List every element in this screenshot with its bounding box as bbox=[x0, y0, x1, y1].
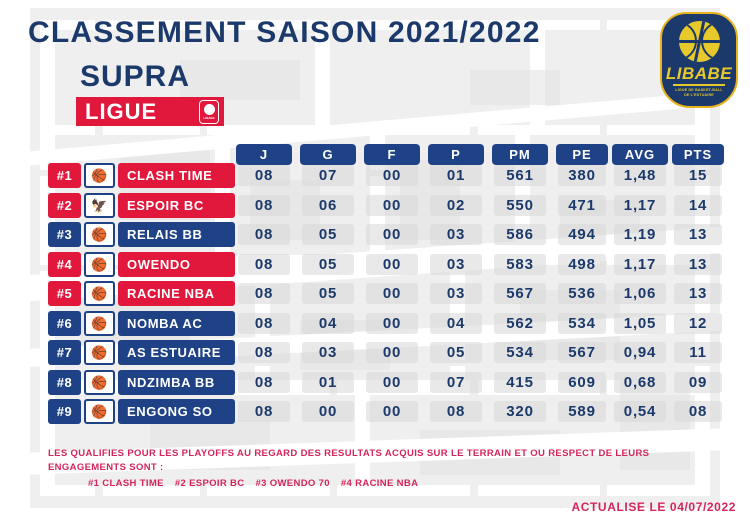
crest-divider bbox=[673, 84, 725, 86]
standings-poster: CLASSEMENT SAISON 2021/2022 SUPRA LIGUE … bbox=[0, 0, 750, 530]
stat-p: 03 bbox=[428, 252, 484, 277]
qualified-team: #2 ESPOIR BC bbox=[175, 478, 245, 489]
libabe-mini-icon: LIBABE bbox=[199, 100, 219, 124]
stat-pe: 609 bbox=[556, 370, 608, 395]
stat-pts: 08 bbox=[672, 399, 724, 424]
crest-subtitle: LIGUE DE BASKET-BALL DE L'ESTUAIRE bbox=[675, 88, 722, 98]
stat-j: 08 bbox=[236, 281, 292, 306]
stat-p: 05 bbox=[428, 340, 484, 365]
stat-pm: 320 bbox=[492, 399, 548, 424]
stat-p: 07 bbox=[428, 370, 484, 395]
stat-f: 00 bbox=[364, 222, 420, 247]
stat-j: 08 bbox=[236, 163, 292, 188]
qualified-teams-list: #1 CLASH TIME#2 ESPOIR BC#3 OWENDO 70#4 … bbox=[88, 478, 429, 489]
stat-g: 03 bbox=[300, 340, 356, 365]
stat-g: 04 bbox=[300, 311, 356, 336]
stat-avg: 0,68 bbox=[612, 370, 668, 395]
stat-avg: 1,48 bbox=[612, 163, 668, 188]
column-header-pe: PE bbox=[556, 144, 608, 165]
ball-seam-left bbox=[679, 21, 697, 61]
stat-pm: 550 bbox=[492, 193, 548, 218]
stat-f: 00 bbox=[364, 399, 420, 424]
nomba-ac-logo: 🏀 bbox=[84, 311, 115, 336]
stat-pe: 534 bbox=[556, 311, 608, 336]
stat-f: 00 bbox=[364, 340, 420, 365]
team-name: NDZIMBA BB bbox=[118, 370, 235, 395]
crest-subtitle-line2: DE L'ESTUAIRE bbox=[675, 93, 722, 98]
stat-p: 04 bbox=[428, 311, 484, 336]
stat-j: 08 bbox=[236, 252, 292, 277]
column-header-g: G bbox=[300, 144, 356, 165]
team-name: ENGONG SO bbox=[118, 399, 235, 424]
stat-j: 08 bbox=[236, 370, 292, 395]
basketball-icon bbox=[679, 21, 720, 62]
crest-subtitle-line1: LIGUE DE BASKET-BALL bbox=[675, 88, 722, 93]
stat-g: 07 bbox=[300, 163, 356, 188]
stat-g: 05 bbox=[300, 222, 356, 247]
rank-badge: #6 bbox=[48, 311, 81, 336]
column-header-f: F bbox=[364, 144, 420, 165]
stat-pts: 13 bbox=[672, 281, 724, 306]
basketball-icon bbox=[204, 104, 215, 115]
stat-pm: 583 bbox=[492, 252, 548, 277]
column-header-p: P bbox=[428, 144, 484, 165]
stat-pts: 13 bbox=[672, 222, 724, 247]
relais-bb-logo: 🏀 bbox=[84, 222, 115, 247]
rank-badge: #9 bbox=[48, 399, 81, 424]
stat-f: 00 bbox=[364, 311, 420, 336]
stat-p: 03 bbox=[428, 222, 484, 247]
rank-badge: #4 bbox=[48, 252, 81, 277]
stat-avg: 1,05 bbox=[612, 311, 668, 336]
team-crest-icon: 🏀 bbox=[91, 405, 107, 418]
stat-g: 05 bbox=[300, 281, 356, 306]
stat-pts: 11 bbox=[672, 340, 724, 365]
page-title: CLASSEMENT SAISON 2021/2022 bbox=[28, 16, 541, 50]
stat-pe: 589 bbox=[556, 399, 608, 424]
team-crest-icon: 🏀 bbox=[91, 317, 107, 330]
team-crest-icon: 🏀 bbox=[91, 169, 107, 182]
team-name: RELAIS BB bbox=[118, 222, 235, 247]
stat-j: 08 bbox=[236, 222, 292, 247]
stat-pts: 15 bbox=[672, 163, 724, 188]
stat-pm: 562 bbox=[492, 311, 548, 336]
stat-g: 01 bbox=[300, 370, 356, 395]
stat-avg: 1,17 bbox=[612, 193, 668, 218]
supra-ligue-logo: SUPRA LIGUE LIBABE bbox=[76, 62, 224, 126]
qualified-team: #1 CLASH TIME bbox=[88, 478, 164, 489]
as-estuaire-logo: 🏀 bbox=[84, 340, 115, 365]
stat-pm: 586 bbox=[492, 222, 548, 247]
column-header-pts: PTS bbox=[672, 144, 724, 165]
stat-f: 00 bbox=[364, 193, 420, 218]
stat-j: 08 bbox=[236, 399, 292, 424]
stat-pm: 561 bbox=[492, 163, 548, 188]
rank-badge: #5 bbox=[48, 281, 81, 306]
mini-logo-label: LIBABE bbox=[203, 116, 214, 120]
espoir-bc-logo: 🦅 bbox=[84, 193, 115, 218]
team-name: NOMBA AC bbox=[118, 311, 235, 336]
rank-badge: #7 bbox=[48, 340, 81, 365]
stat-g: 00 bbox=[300, 399, 356, 424]
stat-f: 00 bbox=[364, 281, 420, 306]
stat-pe: 471 bbox=[556, 193, 608, 218]
stat-pm: 567 bbox=[492, 281, 548, 306]
team-name: CLASH TIME bbox=[118, 163, 235, 188]
libabe-crest: LIBABE LIGUE DE BASKET-BALL DE L'ESTUAIR… bbox=[660, 12, 738, 108]
owendo-logo: 🏀 bbox=[84, 252, 115, 277]
stat-j: 08 bbox=[236, 311, 292, 336]
ball-seam-right bbox=[701, 21, 720, 61]
stat-pe: 567 bbox=[556, 340, 608, 365]
team-name: OWENDO bbox=[118, 252, 235, 277]
stat-avg: 1,06 bbox=[612, 281, 668, 306]
stat-p: 02 bbox=[428, 193, 484, 218]
team-name: RACINE NBA bbox=[118, 281, 235, 306]
stat-g: 06 bbox=[300, 193, 356, 218]
stat-pm: 415 bbox=[492, 370, 548, 395]
crest-name: LIBABE bbox=[666, 65, 732, 82]
stat-f: 00 bbox=[364, 252, 420, 277]
stat-avg: 0,94 bbox=[612, 340, 668, 365]
team-crest-icon: 🏀 bbox=[91, 228, 107, 241]
stat-pts: 12 bbox=[672, 311, 724, 336]
stat-pts: 09 bbox=[672, 370, 724, 395]
stat-avg: 1,19 bbox=[612, 222, 668, 247]
ndzimba-bb-logo: 🏀 bbox=[84, 370, 115, 395]
stat-p: 03 bbox=[428, 281, 484, 306]
column-header-avg: AVG bbox=[612, 144, 668, 165]
qualified-team: #4 RACINE NBA bbox=[341, 478, 418, 489]
team-crest-icon: 🏀 bbox=[91, 258, 107, 271]
stat-j: 08 bbox=[236, 340, 292, 365]
column-header-pm: PM bbox=[492, 144, 548, 165]
qualification-note: LES QUALIFIES POUR LES PLAYOFFS AU REGAR… bbox=[48, 447, 708, 475]
team-crest-icon: 🏀 bbox=[91, 376, 107, 389]
ligue-bar: LIGUE LIBABE bbox=[76, 97, 224, 126]
stat-pe: 498 bbox=[556, 252, 608, 277]
stat-pe: 494 bbox=[556, 222, 608, 247]
updated-date: ACTUALISE LE 04/07/2022 bbox=[571, 500, 736, 514]
team-name: AS ESTUAIRE bbox=[118, 340, 235, 365]
team-crest-icon: 🦅 bbox=[91, 199, 107, 212]
stat-pe: 380 bbox=[556, 163, 608, 188]
stat-pts: 14 bbox=[672, 193, 724, 218]
team-name: ESPOIR BC bbox=[118, 193, 235, 218]
stat-pe: 536 bbox=[556, 281, 608, 306]
stat-g: 05 bbox=[300, 252, 356, 277]
rank-badge: #8 bbox=[48, 370, 81, 395]
stat-f: 00 bbox=[364, 370, 420, 395]
engong-so-logo: 🏀 bbox=[84, 399, 115, 424]
ligue-label: LIGUE bbox=[85, 101, 157, 123]
team-crest-icon: 🏀 bbox=[91, 287, 107, 300]
racine-nba-logo: 🏀 bbox=[84, 281, 115, 306]
stat-avg: 1,17 bbox=[612, 252, 668, 277]
stat-pm: 534 bbox=[492, 340, 548, 365]
stat-pts: 13 bbox=[672, 252, 724, 277]
stat-j: 08 bbox=[236, 193, 292, 218]
rank-badge: #3 bbox=[48, 222, 81, 247]
stat-p: 08 bbox=[428, 399, 484, 424]
rank-badge: #1 bbox=[48, 163, 81, 188]
team-crest-icon: 🏀 bbox=[91, 346, 107, 359]
stat-avg: 0,54 bbox=[612, 399, 668, 424]
column-header-j: J bbox=[236, 144, 292, 165]
stat-f: 00 bbox=[364, 163, 420, 188]
rank-badge: #2 bbox=[48, 193, 81, 218]
qualified-team: #3 OWENDO 70 bbox=[255, 478, 329, 489]
supra-label: SUPRA bbox=[80, 62, 224, 92]
clash-time-logo: 🏀 bbox=[84, 163, 115, 188]
stat-p: 01 bbox=[428, 163, 484, 188]
